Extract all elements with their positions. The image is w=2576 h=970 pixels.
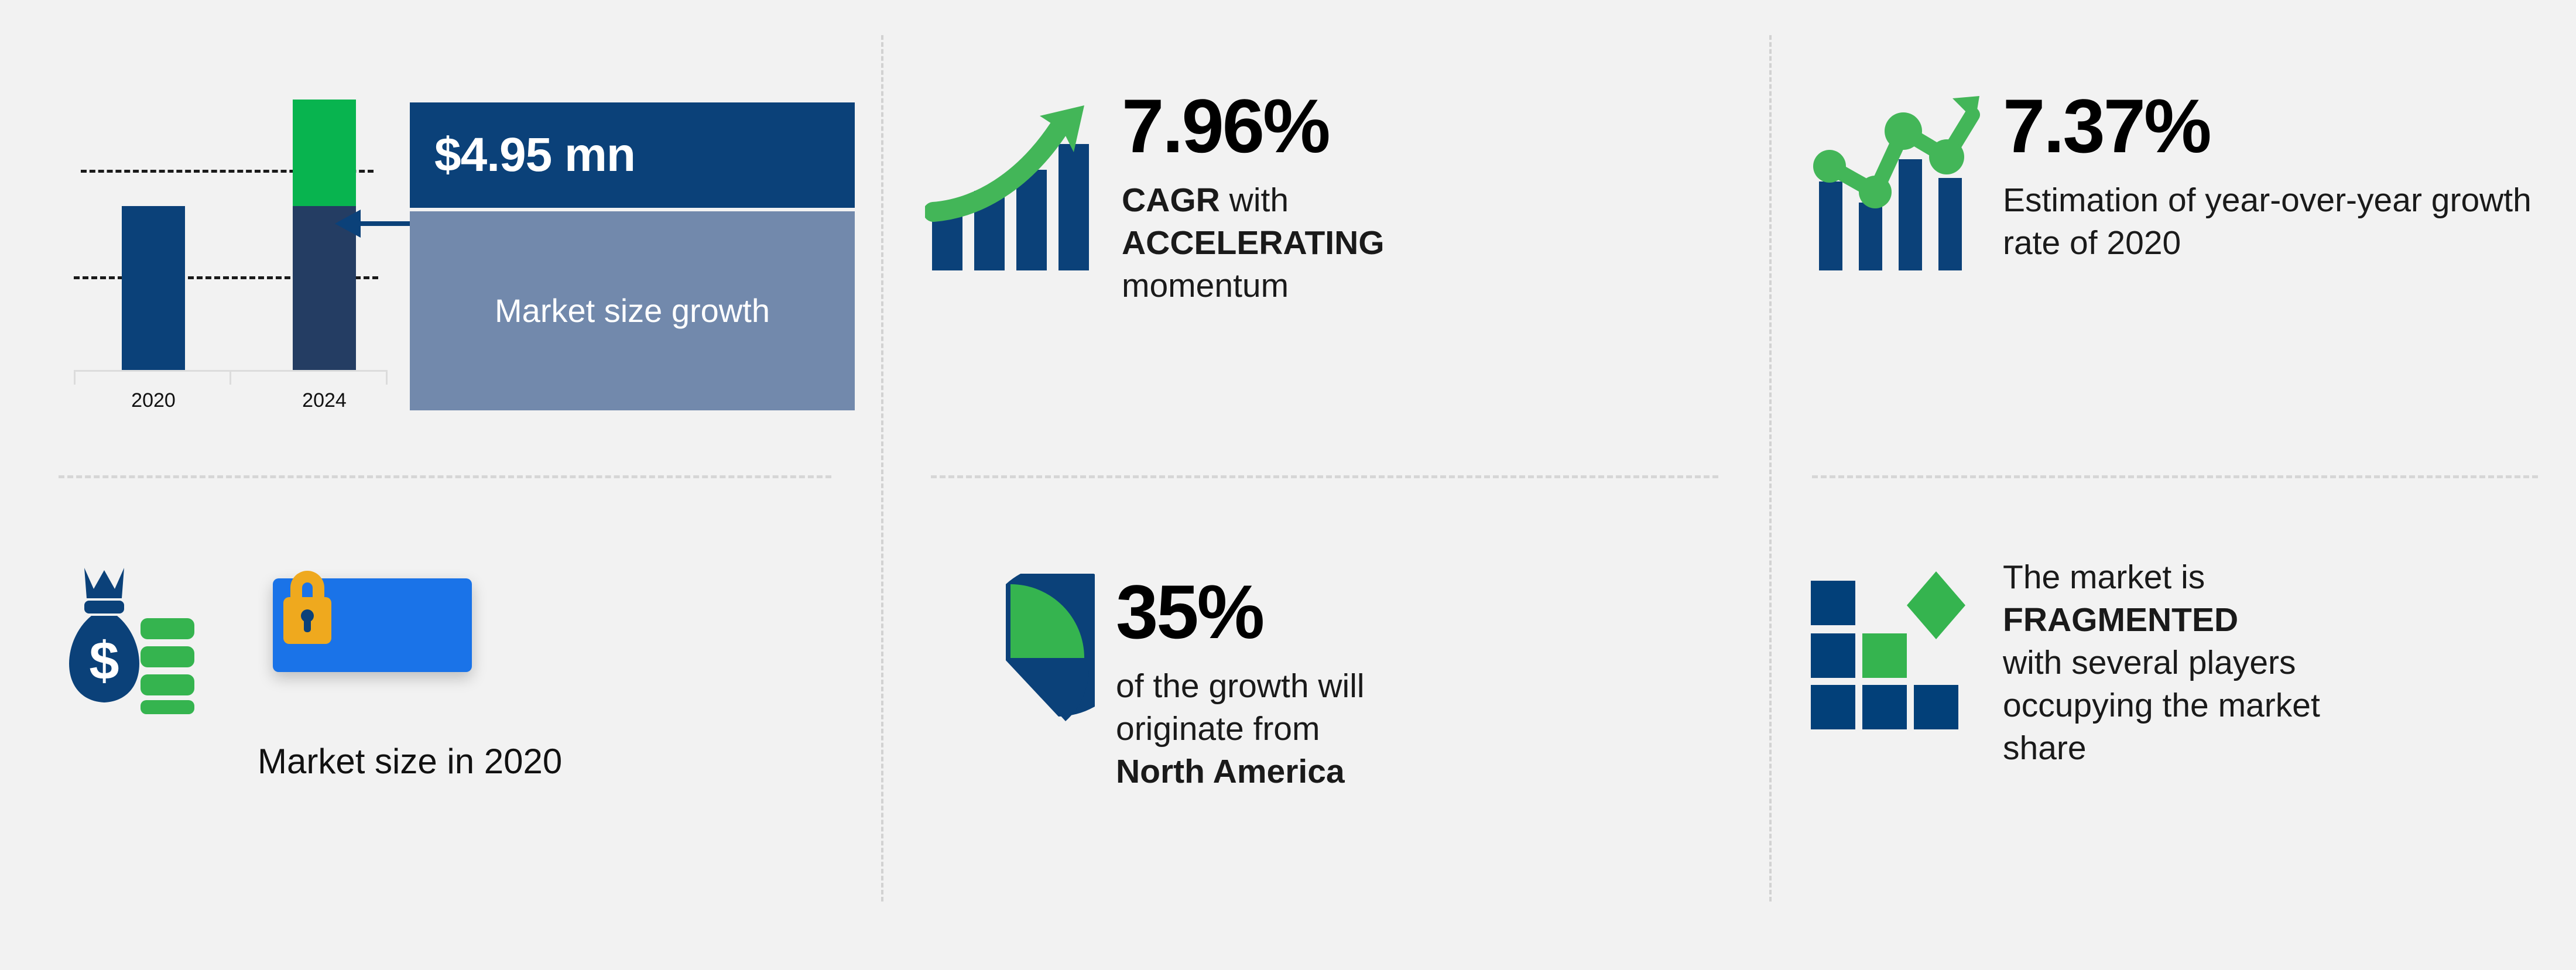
axis-tick	[74, 372, 76, 385]
pie-chart-icon	[925, 574, 1095, 749]
column-divider-2	[1769, 35, 1772, 902]
infographic-canvas: 2020 2024 $4.95 mn Market size growth 7.…	[0, 0, 2576, 970]
cagr-value: 7.96%	[1122, 88, 1733, 164]
axis-tick	[386, 372, 388, 385]
region-line-2: originate from	[1116, 708, 1733, 750]
region-description: of the growth will originate from North …	[1116, 665, 1733, 793]
market-size-2020-panel: $ Market size i	[59, 562, 843, 782]
region-value: 35%	[1116, 574, 1733, 650]
market-size-callout: $4.95 mn Market size growth	[410, 102, 855, 410]
axis-label-2020: 2020	[101, 389, 206, 412]
region-text-block: 35% of the growth will originate from No…	[1116, 574, 1733, 793]
bar-chart-up-arrow-icon	[925, 88, 1101, 281]
cagr-panel: 7.96% CAGR with ACCELERATING momentum	[925, 88, 1733, 307]
row-divider-right	[1812, 475, 2538, 478]
row-divider-left	[59, 475, 831, 478]
callout-value: $4.95 mn	[410, 102, 855, 208]
money-bag-icon: $	[59, 562, 217, 714]
column-divider-1	[881, 35, 883, 902]
fragmentation-line-3: with several players	[2003, 642, 2561, 684]
callout-label: Market size growth	[410, 211, 855, 410]
fragmentation-line-1: The market is	[2003, 556, 2561, 599]
cagr-description: CAGR with ACCELERATING momentum	[1122, 179, 1733, 307]
bar-2024-growth-segment	[293, 100, 356, 206]
bar-chart-line-arrow-icon	[1806, 88, 1982, 281]
fragmentation-text-block: The market is FRAGMENTED with several pl…	[2003, 556, 2561, 770]
fragmentation-line-4: occupying the market	[2003, 684, 2561, 727]
svg-text:$: $	[89, 631, 119, 691]
callout-arrow-line	[357, 221, 418, 226]
yoy-growth-panel: 7.37% Estimation of year-over-year growt…	[1806, 88, 2561, 281]
axis-tick	[229, 372, 231, 385]
cagr-with-text: with	[1220, 181, 1289, 219]
cagr-label: CAGR	[1122, 181, 1220, 219]
yoy-value: 7.37%	[2003, 88, 2561, 164]
market-size-2020-caption: Market size in 2020	[258, 741, 843, 782]
region-name: North America	[1116, 753, 1345, 790]
region-line-1: of the growth will	[1116, 665, 1733, 708]
chart-x-axis	[74, 370, 388, 383]
bar-2020	[122, 206, 185, 370]
fragmentation-panel: The market is FRAGMENTED with several pl…	[1806, 556, 2561, 770]
row-divider-middle	[931, 475, 1718, 478]
fragmented-squares-icon	[1806, 556, 1982, 732]
cagr-momentum-word: momentum	[1122, 267, 1289, 304]
yoy-description: Estimation of year-over-year growth rate…	[2003, 179, 2561, 265]
fragmentation-status: FRAGMENTED	[2003, 601, 2238, 639]
region-share-panel: 35% of the growth will originate from No…	[925, 574, 1733, 793]
cagr-text-block: 7.96% CAGR with ACCELERATING momentum	[1122, 88, 1733, 307]
yoy-text-block: 7.37% Estimation of year-over-year growt…	[2003, 88, 2561, 265]
market-size-growth-panel: 2020 2024 $4.95 mn Market size growth	[35, 70, 866, 445]
axis-label-2024: 2024	[272, 389, 377, 412]
cagr-momentum-label: ACCELERATING	[1122, 224, 1385, 262]
market-size-bar-chart: 2020 2024	[35, 70, 386, 433]
padlock-icon	[269, 562, 345, 650]
view-button-group	[273, 578, 472, 675]
fragmentation-line-5: share	[2003, 727, 2561, 770]
fragmentation-description: The market is FRAGMENTED with several pl…	[2003, 556, 2561, 770]
